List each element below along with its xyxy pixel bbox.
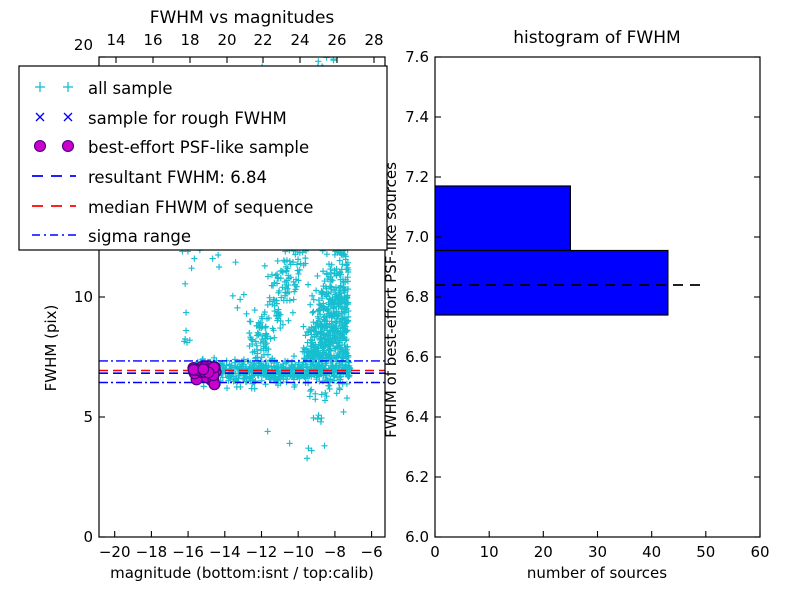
top-tick-label: 20 [217, 31, 236, 49]
bottom-tick-label: −16 [172, 543, 204, 561]
legend-label: sigma range [88, 227, 191, 246]
scatter-point [198, 364, 209, 375]
y-tick-label: 5 [83, 408, 93, 426]
top-tick-label: 14 [106, 31, 125, 49]
top-tick-label: 24 [290, 31, 309, 49]
top-tick-label: 28 [364, 31, 383, 49]
legend: all sample sample for rough FWHM best-ef… [19, 66, 387, 250]
scatter-yaxis-title: FWHM (pix) [42, 305, 60, 392]
y-tick-label: 6.6 [405, 348, 429, 366]
y-tick-label: 7.6 [405, 48, 429, 66]
y-tick-label: 6.8 [405, 288, 429, 306]
x-tick-label: 60 [750, 543, 769, 561]
y-tick-label: 0 [83, 528, 93, 546]
figure-canvas: FWHM vs magnitudes 14 16 18 20 22 24 26 … [0, 0, 800, 600]
bottom-tick-label: −6 [361, 543, 383, 561]
histogram-panel-title: histogram of FWHM [513, 28, 680, 48]
matplotlib-figure: FWHM vs magnitudes 14 16 18 20 22 24 26 … [0, 0, 800, 600]
x-tick-label: 30 [588, 543, 607, 561]
histogram-xaxis-title: number of sources [527, 564, 667, 582]
y-tick-label: 7.0 [405, 228, 429, 246]
legend-label: median FHWM of sequence [88, 198, 313, 217]
x-tick-label: 10 [480, 543, 499, 561]
bottom-tick-label: −14 [209, 543, 241, 561]
y-tick-label: 7.4 [405, 108, 429, 126]
scatter-xaxis-title: magnitude (bottom:isnt / top:calib) [110, 564, 374, 582]
top-tick-label: 16 [143, 31, 162, 49]
bottom-tick-label: −18 [136, 543, 168, 561]
histogram-bar [435, 251, 668, 316]
y-tick-label: 7.2 [405, 168, 429, 186]
bottom-tick-label: −20 [99, 543, 131, 561]
x-tick-label: 20 [534, 543, 553, 561]
bottom-tick-label: −10 [282, 543, 314, 561]
bottom-tick-label: −12 [246, 543, 278, 561]
legend-label: all sample [88, 79, 173, 98]
y-tick-label: 6.4 [405, 408, 429, 426]
top-tick-label: 22 [253, 31, 272, 49]
x-tick-label: 0 [430, 543, 440, 561]
legend-label: sample for rough FWHM [88, 109, 287, 128]
scatter-panel-title: FWHM vs magnitudes [150, 8, 335, 28]
legend-label: resultant FWHM: 6.84 [88, 168, 267, 187]
bottom-tick-label: −8 [324, 543, 346, 561]
top-tick-label: 18 [180, 31, 199, 49]
x-tick-label: 50 [696, 543, 715, 561]
legend-box [19, 66, 387, 250]
y-tick-label: 6.0 [405, 528, 429, 546]
y-tick-label: 10 [74, 288, 93, 306]
histogram-bar [435, 186, 570, 251]
x-tick-label: 40 [642, 543, 661, 561]
legend-label: best-effort PSF-like sample [88, 138, 309, 157]
top-tick-label: 26 [327, 31, 346, 49]
y-tick-label: 20 [74, 36, 93, 54]
y-tick-label: 6.2 [405, 468, 429, 486]
